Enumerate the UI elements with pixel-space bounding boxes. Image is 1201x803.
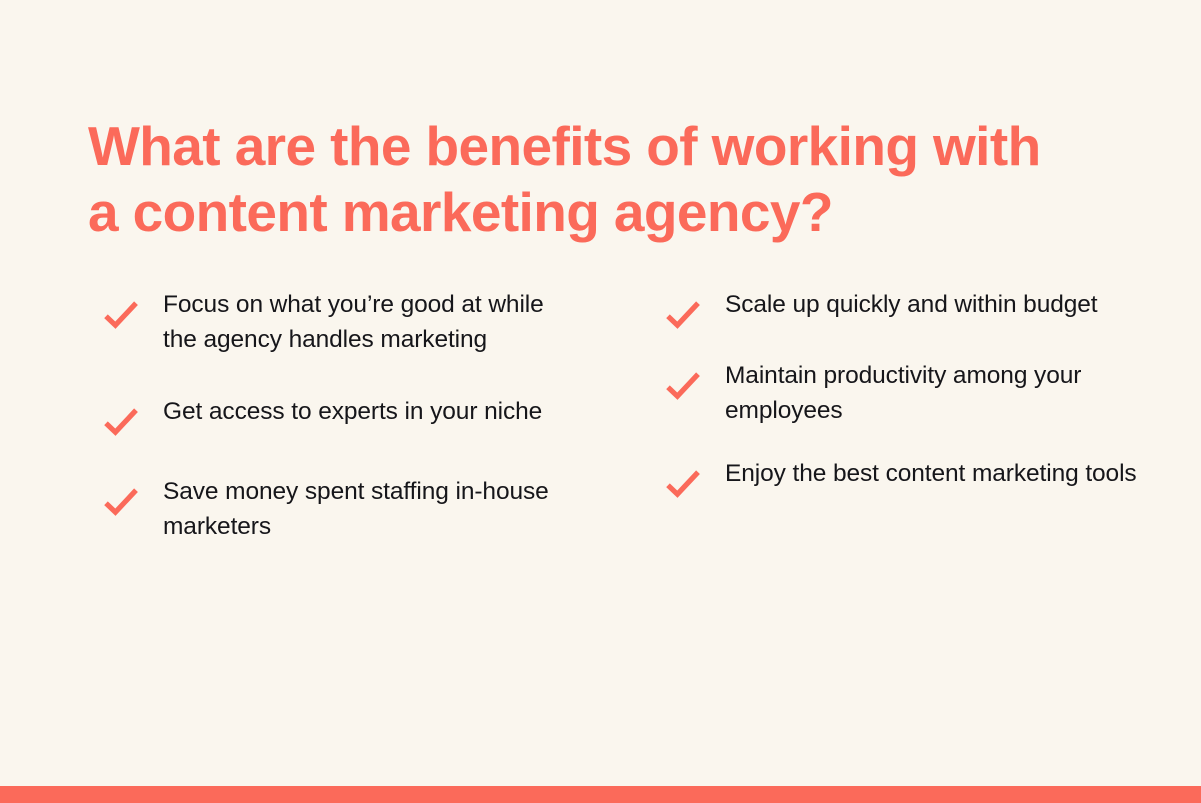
benefits-columns: Focus on what you’re good at while the a… <box>0 286 1201 544</box>
list-item: Save money spent staffing in-house marke… <box>103 473 582 544</box>
bottom-accent-bar <box>0 786 1201 803</box>
list-item: Enjoy the best content marketing tools <box>665 455 1141 499</box>
check-icon <box>665 469 701 499</box>
list-item-label: Maintain productivity among your employe… <box>725 357 1141 428</box>
list-item: Get access to experts in your niche <box>103 393 582 437</box>
benefits-column-right: Scale up quickly and within budget Maint… <box>600 286 1201 499</box>
list-item-label: Get access to experts in your niche <box>163 393 582 429</box>
list-item: Scale up quickly and within budget <box>665 286 1141 330</box>
list-item-label: Enjoy the best content marketing tools <box>725 455 1141 491</box>
list-item-label: Scale up quickly and within budget <box>725 286 1141 322</box>
page-title: What are the benefits of working with a … <box>88 113 1098 245</box>
check-icon <box>665 371 701 401</box>
benefits-column-left: Focus on what you’re good at while the a… <box>0 286 600 544</box>
list-item: Focus on what you’re good at while the a… <box>103 286 582 357</box>
infographic-canvas: What are the benefits of working with a … <box>0 0 1201 803</box>
list-item-label: Save money spent staffing in-house marke… <box>163 473 582 544</box>
check-icon <box>103 487 139 517</box>
check-icon <box>665 300 701 330</box>
check-icon <box>103 300 139 330</box>
check-icon <box>103 407 139 437</box>
list-item-label: Focus on what you’re good at while the a… <box>163 286 582 357</box>
list-item: Maintain productivity among your employe… <box>665 357 1141 428</box>
